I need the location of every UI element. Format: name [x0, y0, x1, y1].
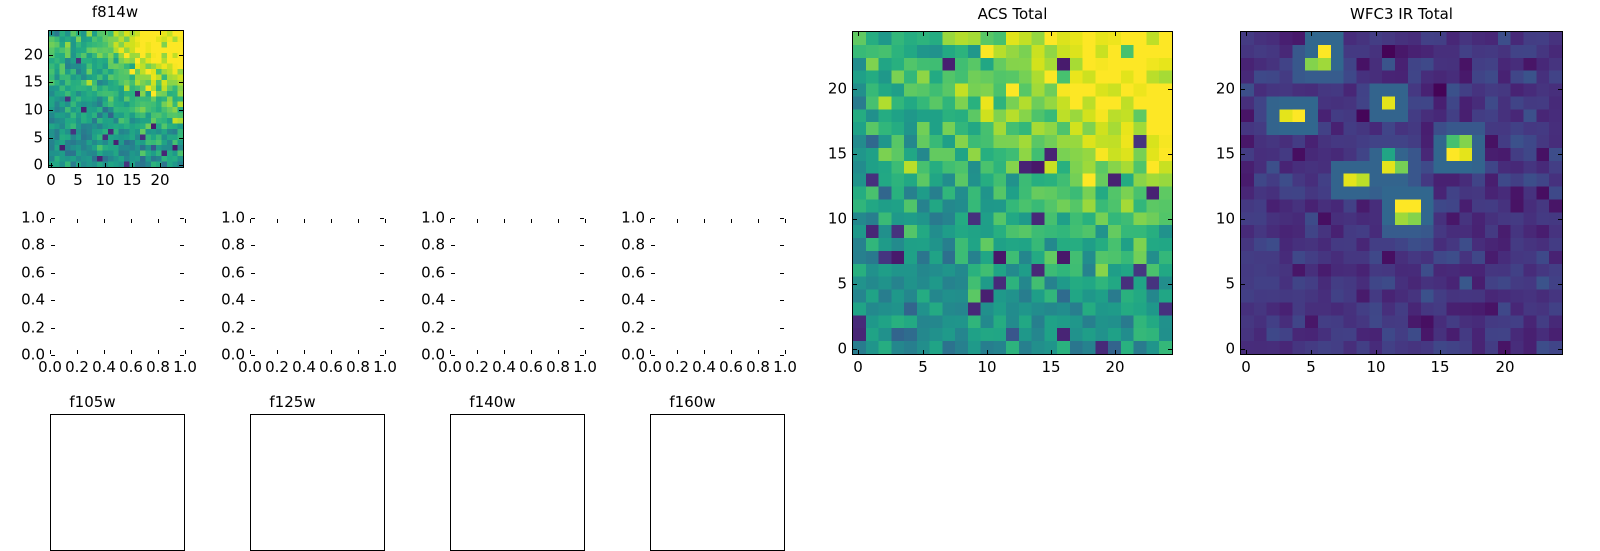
xticklabel-wfc3-ir-total-3: 15: [1430, 359, 1449, 376]
yticklabel-f125w-0: 0.0: [190, 347, 245, 364]
ytick-f140w-0: [451, 355, 455, 356]
ytick-right-acs-total-4: [1168, 89, 1172, 90]
xticklabel-f814w-3: 15: [122, 172, 141, 189]
ytick-right-acs-total-2: [1168, 219, 1172, 220]
ytick-f160w-3: [651, 273, 655, 274]
yticklabel-wfc3-ir-total-0: 0: [1180, 341, 1235, 358]
xtick-top-wfc3-ir-total-3: [1440, 32, 1441, 36]
xtick-f105w-2: [104, 350, 105, 354]
xtick-f140w-0: [450, 350, 451, 354]
xticklabel-f814w-0: 0: [46, 172, 56, 189]
xticklabel-f105w-4: 0.8: [146, 359, 170, 376]
ytick-right-f125w-1: [380, 328, 384, 329]
xtick-acs-total-2: [987, 350, 988, 354]
ytick-right-wfc3-ir-total-3: [1558, 154, 1562, 155]
yticklabel-f105w-4: 0.8: [0, 237, 45, 254]
ytick-f160w-5: [651, 218, 655, 219]
ytick-right-f125w-4: [380, 245, 384, 246]
xticklabel-f160w-4: 0.8: [746, 359, 770, 376]
yticklabel-f140w-0: 0.0: [390, 347, 445, 364]
yticklabel-f125w-5: 1.0: [190, 210, 245, 227]
ytick-right-f125w-3: [380, 273, 384, 274]
ytick-f814w-4: [49, 55, 53, 56]
yticklabel-f140w-3: 0.6: [390, 265, 445, 282]
xticklabel-f140w-2: 0.4: [492, 359, 516, 376]
xtick-top-f105w-0: [50, 219, 51, 223]
ytick-right-f140w-5: [580, 218, 584, 219]
xtick-top-wfc3-ir-total-2: [1376, 32, 1377, 36]
yticklabel-f814w-4: 20: [0, 47, 43, 64]
xtick-wfc3-ir-total-2: [1376, 350, 1377, 354]
ytick-f140w-2: [451, 300, 455, 301]
xtick-top-f814w-1: [78, 31, 79, 35]
xticklabel-f105w-3: 0.6: [119, 359, 143, 376]
xtick-top-f140w-1: [477, 219, 478, 223]
ytick-right-wfc3-ir-total-1: [1558, 284, 1562, 285]
ytick-f105w-0: [51, 355, 55, 356]
ytick-wfc3-ir-total-3: [1241, 154, 1245, 155]
xtick-f814w-4: [160, 163, 161, 167]
yticklabel-f125w-4: 0.8: [190, 237, 245, 254]
ytick-f814w-1: [49, 138, 53, 139]
yticklabel-f160w-3: 0.6: [590, 265, 645, 282]
xtick-top-f125w-1: [277, 219, 278, 223]
ytick-right-f814w-0: [179, 165, 183, 166]
xticklabel-f105w-1: 0.2: [65, 359, 89, 376]
ytick-f160w-1: [651, 328, 655, 329]
axes-f125w: [250, 414, 385, 551]
ytick-right-f105w-0: [180, 355, 184, 356]
xticklabel-wfc3-ir-total-4: 20: [1495, 359, 1514, 376]
xtick-f814w-3: [132, 163, 133, 167]
yticklabel-f105w-1: 0.2: [0, 320, 45, 337]
xtick-top-f125w-2: [304, 219, 305, 223]
matplotlib-figure: f814w f105w f125w f140w f160w ACS Total: [0, 0, 1600, 400]
xtick-top-f814w-4: [160, 31, 161, 35]
ytick-f125w-2: [251, 300, 255, 301]
yticklabel-acs-total-0: 0: [792, 341, 847, 358]
yticklabel-f140w-4: 0.8: [390, 237, 445, 254]
yticklabel-wfc3-ir-total-2: 10: [1180, 211, 1235, 228]
ytick-f140w-3: [451, 273, 455, 274]
ytick-right-f160w-3: [780, 273, 784, 274]
yticklabel-wfc3-ir-total-4: 20: [1180, 81, 1235, 98]
xticklabel-wfc3-ir-total-1: 5: [1306, 359, 1316, 376]
ytick-wfc3-ir-total-0: [1241, 349, 1245, 350]
xtick-top-f125w-4: [358, 219, 359, 223]
xtick-f105w-0: [50, 350, 51, 354]
xtick-top-f105w-5: [185, 219, 186, 223]
yticklabel-f105w-3: 0.6: [0, 265, 45, 282]
xticklabel-f814w-4: 20: [150, 172, 169, 189]
xticklabel-f160w-1: 0.2: [665, 359, 689, 376]
ytick-right-f140w-1: [580, 328, 584, 329]
yticklabel-f125w-3: 0.6: [190, 265, 245, 282]
ytick-right-f140w-4: [580, 245, 584, 246]
ytick-f105w-1: [51, 328, 55, 329]
ytick-right-f814w-2: [179, 110, 183, 111]
ytick-acs-total-4: [853, 89, 857, 90]
ytick-f125w-5: [251, 218, 255, 219]
axes-f140w: [450, 414, 585, 551]
ytick-right-f125w-0: [380, 355, 384, 356]
xtick-wfc3-ir-total-4: [1505, 350, 1506, 354]
xtick-top-f105w-1: [77, 219, 78, 223]
xticklabel-f125w-2: 0.4: [292, 359, 316, 376]
yticklabel-f140w-5: 1.0: [390, 210, 445, 227]
ytick-f160w-0: [651, 355, 655, 356]
ytick-f140w-1: [451, 328, 455, 329]
ytick-wfc3-ir-total-2: [1241, 219, 1245, 220]
ytick-right-f105w-5: [180, 218, 184, 219]
ytick-right-f814w-3: [179, 82, 183, 83]
ytick-f140w-4: [451, 245, 455, 246]
yticklabel-f160w-4: 0.8: [590, 237, 645, 254]
axes-f160w: [650, 414, 785, 551]
xtick-f160w-3: [731, 350, 732, 354]
ytick-f105w-5: [51, 218, 55, 219]
xtick-top-f105w-2: [104, 219, 105, 223]
xtick-f105w-1: [77, 350, 78, 354]
xtick-f140w-2: [504, 350, 505, 354]
xtick-top-acs-total-2: [987, 32, 988, 36]
ytick-right-wfc3-ir-total-4: [1558, 89, 1562, 90]
yticklabel-f140w-2: 0.4: [390, 292, 445, 309]
xtick-acs-total-1: [923, 350, 924, 354]
xtick-wfc3-ir-total-1: [1311, 350, 1312, 354]
xticklabel-acs-total-3: 15: [1041, 359, 1060, 376]
xtick-top-f140w-4: [558, 219, 559, 223]
yticklabel-f160w-5: 1.0: [590, 210, 645, 227]
xtick-f140w-5: [585, 350, 586, 354]
yticklabel-acs-total-2: 10: [792, 211, 847, 228]
ytick-f160w-2: [651, 300, 655, 301]
yticklabel-wfc3-ir-total-3: 15: [1180, 146, 1235, 163]
xtick-top-acs-total-3: [1051, 32, 1052, 36]
xtick-f160w-1: [677, 350, 678, 354]
xtick-f160w-4: [758, 350, 759, 354]
xtick-f105w-4: [158, 350, 159, 354]
axes-f105w: [50, 414, 185, 551]
ytick-f814w-0: [49, 165, 53, 166]
xtick-top-f105w-3: [131, 219, 132, 223]
xtick-top-f160w-2: [704, 219, 705, 223]
panel-title-wfc3-ir-total: WFC3 IR Total: [1240, 6, 1563, 23]
xtick-top-f140w-0: [450, 219, 451, 223]
xtick-top-wfc3-ir-total-0: [1246, 32, 1247, 36]
xtick-top-wfc3-ir-total-4: [1505, 32, 1506, 36]
ytick-right-f814w-1: [179, 138, 183, 139]
yticklabel-f105w-5: 1.0: [0, 210, 45, 227]
xtick-top-f160w-5: [785, 219, 786, 223]
yticklabel-f125w-1: 0.2: [190, 320, 245, 337]
xtick-top-acs-total-1: [923, 32, 924, 36]
ytick-f125w-0: [251, 355, 255, 356]
ytick-f814w-3: [49, 82, 53, 83]
xtick-f105w-3: [131, 350, 132, 354]
yticklabel-acs-total-4: 20: [792, 81, 847, 98]
ytick-right-acs-total-3: [1168, 154, 1172, 155]
ytick-acs-total-0: [853, 349, 857, 350]
ytick-f105w-3: [51, 273, 55, 274]
ytick-acs-total-3: [853, 154, 857, 155]
yticklabel-f105w-0: 0.0: [0, 347, 45, 364]
xticklabel-acs-total-2: 10: [977, 359, 996, 376]
ytick-right-f105w-4: [180, 245, 184, 246]
ytick-right-acs-total-1: [1168, 284, 1172, 285]
xtick-top-f814w-3: [132, 31, 133, 35]
xtick-acs-total-0: [858, 350, 859, 354]
xtick-top-f105w-4: [158, 219, 159, 223]
xticklabel-f140w-1: 0.2: [465, 359, 489, 376]
yticklabel-f140w-1: 0.2: [390, 320, 445, 337]
xtick-top-f140w-2: [504, 219, 505, 223]
xticklabel-wfc3-ir-total-0: 0: [1241, 359, 1251, 376]
xticklabel-acs-total-0: 0: [853, 359, 863, 376]
yticklabel-acs-total-1: 5: [792, 276, 847, 293]
xticklabel-f140w-3: 0.6: [519, 359, 543, 376]
xtick-top-f125w-3: [331, 219, 332, 223]
heatmap-wfc3-ir-total: [1241, 32, 1562, 354]
axes-wfc3-ir-total: [1240, 31, 1563, 355]
ytick-f814w-2: [49, 110, 53, 111]
xtick-f125w-5: [385, 350, 386, 354]
yticklabel-f814w-1: 5: [0, 130, 43, 147]
ytick-f105w-2: [51, 300, 55, 301]
ytick-right-f140w-0: [580, 355, 584, 356]
ytick-right-wfc3-ir-total-2: [1558, 219, 1562, 220]
ytick-right-f105w-3: [180, 273, 184, 274]
xticklabel-f160w-5: 1.0: [773, 359, 797, 376]
xtick-f125w-4: [358, 350, 359, 354]
ytick-right-f160w-1: [780, 328, 784, 329]
xtick-f140w-4: [558, 350, 559, 354]
xtick-top-f160w-3: [731, 219, 732, 223]
xtick-acs-total-3: [1051, 350, 1052, 354]
xticklabel-wfc3-ir-total-2: 10: [1366, 359, 1385, 376]
ytick-f125w-1: [251, 328, 255, 329]
xticklabel-f160w-3: 0.6: [719, 359, 743, 376]
xtick-top-wfc3-ir-total-1: [1311, 32, 1312, 36]
ytick-right-wfc3-ir-total-0: [1558, 349, 1562, 350]
ytick-acs-total-1: [853, 284, 857, 285]
yticklabel-f814w-3: 15: [0, 74, 43, 91]
ytick-right-f140w-2: [580, 300, 584, 301]
ytick-wfc3-ir-total-1: [1241, 284, 1245, 285]
yticklabel-f160w-1: 0.2: [590, 320, 645, 337]
xticklabel-f105w-2: 0.4: [92, 359, 116, 376]
xtick-f125w-3: [331, 350, 332, 354]
xtick-f105w-5: [185, 350, 186, 354]
xtick-f160w-5: [785, 350, 786, 354]
xtick-top-f125w-0: [250, 219, 251, 223]
xtick-top-f140w-3: [531, 219, 532, 223]
ytick-right-f814w-4: [179, 55, 183, 56]
ytick-f125w-3: [251, 273, 255, 274]
xtick-wfc3-ir-total-0: [1246, 350, 1247, 354]
xtick-f814w-1: [78, 163, 79, 167]
ytick-right-f105w-2: [180, 300, 184, 301]
xtick-top-f160w-1: [677, 219, 678, 223]
xticklabel-f814w-2: 10: [95, 172, 114, 189]
yticklabel-f125w-2: 0.4: [190, 292, 245, 309]
xticklabel-f140w-4: 0.8: [546, 359, 570, 376]
xticklabel-acs-total-1: 5: [918, 359, 928, 376]
ytick-right-f125w-2: [380, 300, 384, 301]
xtick-f160w-0: [650, 350, 651, 354]
yticklabel-f105w-2: 0.4: [0, 292, 45, 309]
yticklabel-wfc3-ir-total-1: 5: [1180, 276, 1235, 293]
xtick-top-f140w-5: [585, 219, 586, 223]
ytick-right-f160w-2: [780, 300, 784, 301]
xtick-f125w-2: [304, 350, 305, 354]
xticklabel-f125w-3: 0.6: [319, 359, 343, 376]
xticklabel-f125w-4: 0.8: [346, 359, 370, 376]
ytick-acs-total-2: [853, 219, 857, 220]
yticklabel-f814w-2: 10: [0, 102, 43, 119]
xtick-f140w-3: [531, 350, 532, 354]
yticklabel-f160w-2: 0.4: [590, 292, 645, 309]
ytick-wfc3-ir-total-4: [1241, 89, 1245, 90]
ytick-f125w-4: [251, 245, 255, 246]
xtick-f814w-2: [105, 163, 106, 167]
xticklabel-f814w-1: 5: [73, 172, 83, 189]
ytick-right-f140w-3: [580, 273, 584, 274]
ytick-right-f125w-5: [380, 218, 384, 219]
ytick-right-f160w-5: [780, 218, 784, 219]
yticklabel-acs-total-3: 15: [792, 146, 847, 163]
xtick-f125w-0: [250, 350, 251, 354]
xtick-top-f814w-2: [105, 31, 106, 35]
xtick-acs-total-4: [1115, 350, 1116, 354]
yticklabel-f160w-0: 0.0: [590, 347, 645, 364]
xtick-top-acs-total-0: [858, 32, 859, 36]
xtick-top-acs-total-4: [1115, 32, 1116, 36]
ytick-f105w-4: [51, 245, 55, 246]
ytick-right-acs-total-0: [1168, 349, 1172, 350]
ytick-f140w-5: [451, 218, 455, 219]
xtick-top-f125w-5: [385, 219, 386, 223]
xtick-f140w-1: [477, 350, 478, 354]
ytick-f160w-4: [651, 245, 655, 246]
xticklabel-f160w-2: 0.4: [692, 359, 716, 376]
xtick-top-f160w-4: [758, 219, 759, 223]
ytick-right-f160w-0: [780, 355, 784, 356]
ytick-right-f160w-4: [780, 245, 784, 246]
xtick-wfc3-ir-total-3: [1440, 350, 1441, 354]
ytick-right-f105w-1: [180, 328, 184, 329]
xtick-top-f160w-0: [650, 219, 651, 223]
xtick-f160w-2: [704, 350, 705, 354]
xtick-top-f814w-0: [51, 31, 52, 35]
xtick-f125w-1: [277, 350, 278, 354]
yticklabel-f814w-0: 0: [0, 157, 43, 174]
xticklabel-acs-total-4: 20: [1105, 359, 1124, 376]
xticklabel-f125w-1: 0.2: [265, 359, 289, 376]
